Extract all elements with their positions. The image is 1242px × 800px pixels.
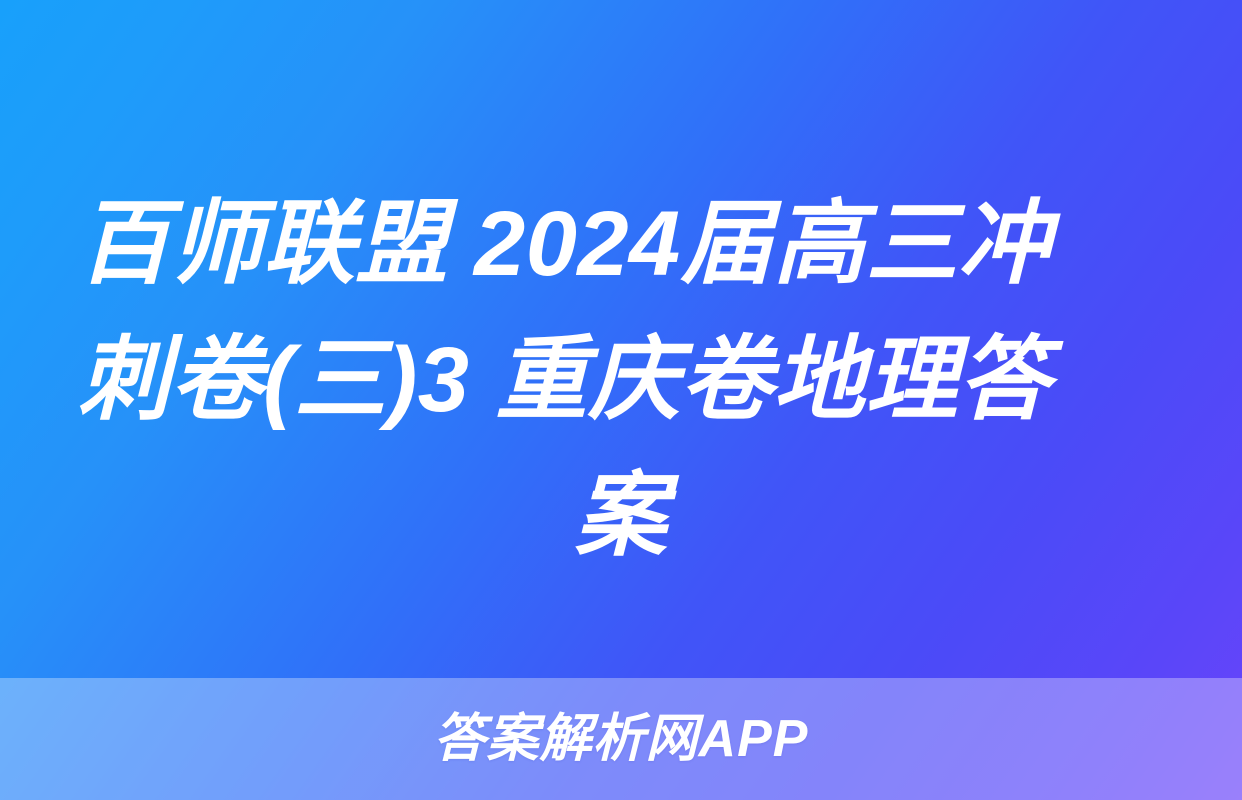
cover-card: 百师联盟 2024届高三冲 刺卷(三)3 重庆卷地理答 案 答案解析网APP: [0, 0, 1242, 800]
page-title: 百师联盟 2024届高三冲 刺卷(三)3 重庆卷地理答 案: [78, 176, 1164, 584]
footer-strip: 答案解析网APP: [0, 678, 1242, 800]
title-line-1: 百师联盟 2024届高三冲: [78, 176, 1164, 312]
app-watermark-label: 答案解析网APP: [434, 713, 809, 765]
title-line-3: 案: [78, 448, 1164, 584]
title-line-2: 刺卷(三)3 重庆卷地理答: [78, 312, 1164, 448]
